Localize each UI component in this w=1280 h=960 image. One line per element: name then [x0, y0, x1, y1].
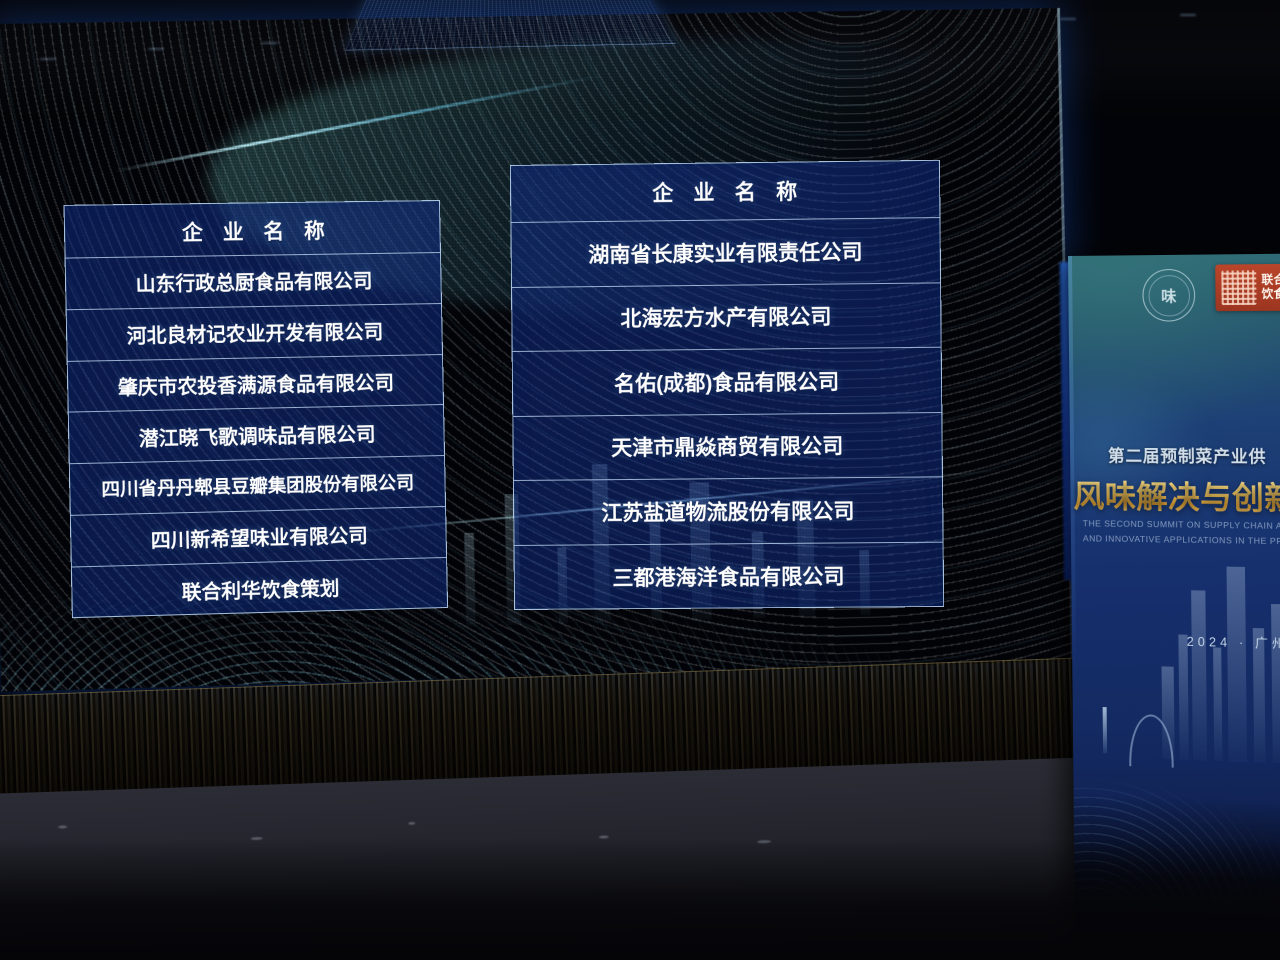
sponsor-badge: 联合 饮食 — [1215, 264, 1280, 312]
sponsor-badge-text: 联合 饮食 — [1261, 273, 1280, 302]
table-left-header: 企 业 名 称 — [65, 201, 440, 259]
company-table-left: 企 业 名 称 山东行政总厨食品有限公司 河北良材记农业开发有限公司 肇庆市农投… — [64, 200, 449, 618]
poster-english-line-2: AND INNOVATIVE APPLICATIONS IN THE PREPA — [1083, 533, 1280, 546]
table-row: 北海宏方水产有限公司 — [512, 283, 941, 352]
table-row: 江苏盐道物流股份有限公司 — [514, 477, 943, 545]
table-row: 肇庆市农投香满源食品有限公司 — [68, 355, 443, 413]
table-row: 天津市鼎焱商贸有限公司 — [513, 413, 942, 481]
table-right-header: 企 业 名 称 — [511, 161, 940, 223]
sponsor-seal-icon — [1221, 270, 1256, 305]
table-row: 湖南省长康实业有限责任公司 — [511, 218, 940, 287]
poster-subtitle-cn: 第二届预制菜产业供 — [1070, 442, 1280, 468]
stage-scene: 企 业 名 称 山东行政总厨食品有限公司 河北良材记农业开发有限公司 肇庆市农投… — [0, 0, 1280, 960]
table-row: 山东行政总厨食品有限公司 — [66, 253, 441, 310]
table-row: 四川省丹丹郫县豆瓣集团股份有限公司 — [70, 456, 445, 516]
poster-english-subtitle: THE SECOND SUMMIT ON SUPPLY CHAIN AND AN… — [1083, 516, 1280, 549]
table-row: 联合利华饮食策划 — [72, 558, 447, 619]
company-table-right: 企 业 名 称 湖南省长康实业有限责任公司 北海宏方水产有限公司 名佑(成都)食… — [510, 160, 944, 610]
floor-speck — [599, 835, 609, 838]
association-seal-icon: 味 — [1142, 269, 1195, 322]
ceiling-light-glint — [1180, 14, 1196, 16]
table-row: 名佑(成都)食品有限公司 — [513, 348, 942, 417]
table-row: 河北良材记农业开发有限公司 — [67, 304, 442, 362]
table-row: 三都港海洋食品有限公司 — [515, 542, 944, 610]
table-row: 潜江晓飞歌调味品有限公司 — [69, 405, 444, 464]
poster-english-line-1: THE SECOND SUMMIT ON SUPPLY CHAIN AND — [1083, 518, 1280, 531]
floor-speck — [58, 825, 67, 828]
emblem-character: 味 — [1161, 285, 1176, 306]
ceiling-light-glint — [1060, 18, 1076, 20]
foreground-shadow — [0, 840, 1280, 960]
poster-title-cn: 风味解决与创新 — [1068, 471, 1280, 519]
sponsor-line-2: 饮食 — [1262, 288, 1280, 300]
sponsor-line-1: 联合 — [1261, 274, 1280, 286]
floor-speck — [408, 822, 415, 825]
